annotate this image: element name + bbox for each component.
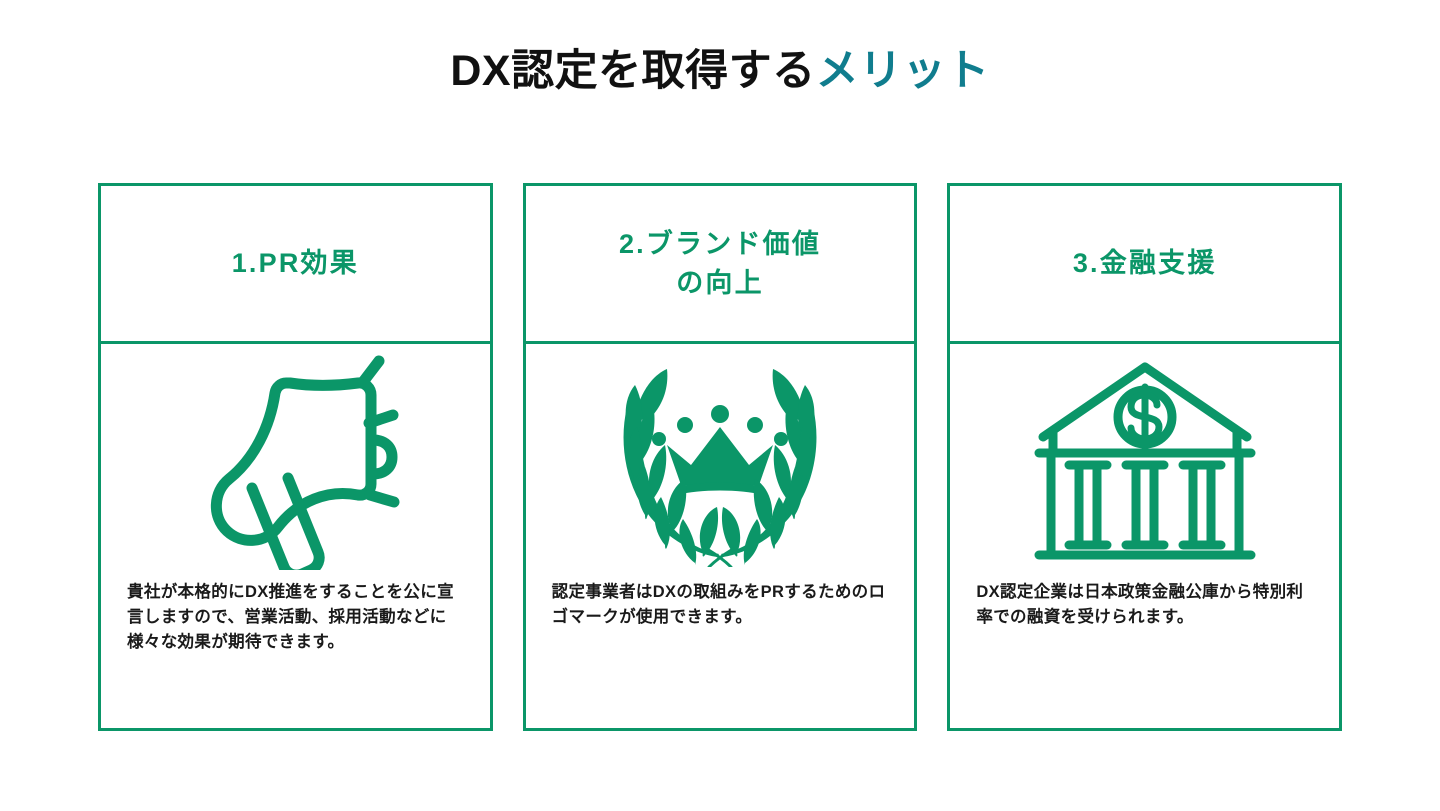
- benefit-card-3-header: 3.金融支援: [950, 186, 1339, 344]
- benefit-card-1-header: 1.PR効果: [101, 186, 490, 344]
- megaphone-icon: [101, 344, 490, 580]
- benefit-card-3-body: DX認定企業は日本政策金融公庫から特別利率での融資を受けられます。: [950, 344, 1339, 728]
- benefit-card-1-description: 貴社が本格的にDX推進をすることを公に宣言しますので、営業活動、採用活動などに様…: [101, 580, 490, 655]
- benefit-card-2-description: 認定事業者はDXの取組みをPRするためのロゴマークが使用できます。: [526, 580, 915, 630]
- page-title-main: DX認定を取得する: [450, 47, 815, 95]
- benefit-card-2[interactable]: 2.ブランド価値 の向上: [523, 183, 918, 731]
- benefit-card-3-title: 3.金融支援: [1073, 244, 1217, 282]
- benefit-card-1-title: 1.PR効果: [232, 244, 359, 282]
- page-title: DX認定を取得するメリット: [0, 47, 1440, 96]
- benefit-card-list: 1.PR効果: [98, 183, 1342, 731]
- benefit-card-3[interactable]: 3.金融支援: [947, 183, 1342, 731]
- benefit-card-2-title: 2.ブランド価値 の向上: [619, 225, 821, 302]
- bank-dollar-icon: [950, 344, 1339, 580]
- benefit-card-2-header: 2.ブランド価値 の向上: [526, 186, 915, 344]
- benefit-card-3-description: DX認定企業は日本政策金融公庫から特別利率での融資を受けられます。: [950, 580, 1339, 630]
- laurel-crown-icon: [526, 344, 915, 580]
- benefit-card-1[interactable]: 1.PR効果: [98, 183, 493, 731]
- page-title-accent: メリット: [816, 47, 990, 95]
- slide-root: DX認定を取得するメリット 1.PR効果: [0, 0, 1440, 811]
- benefit-card-1-body: 貴社が本格的にDX推進をすることを公に宣言しますので、営業活動、採用活動などに様…: [101, 344, 490, 728]
- benefit-card-2-body: 認定事業者はDXの取組みをPRするためのロゴマークが使用できます。: [526, 344, 915, 728]
